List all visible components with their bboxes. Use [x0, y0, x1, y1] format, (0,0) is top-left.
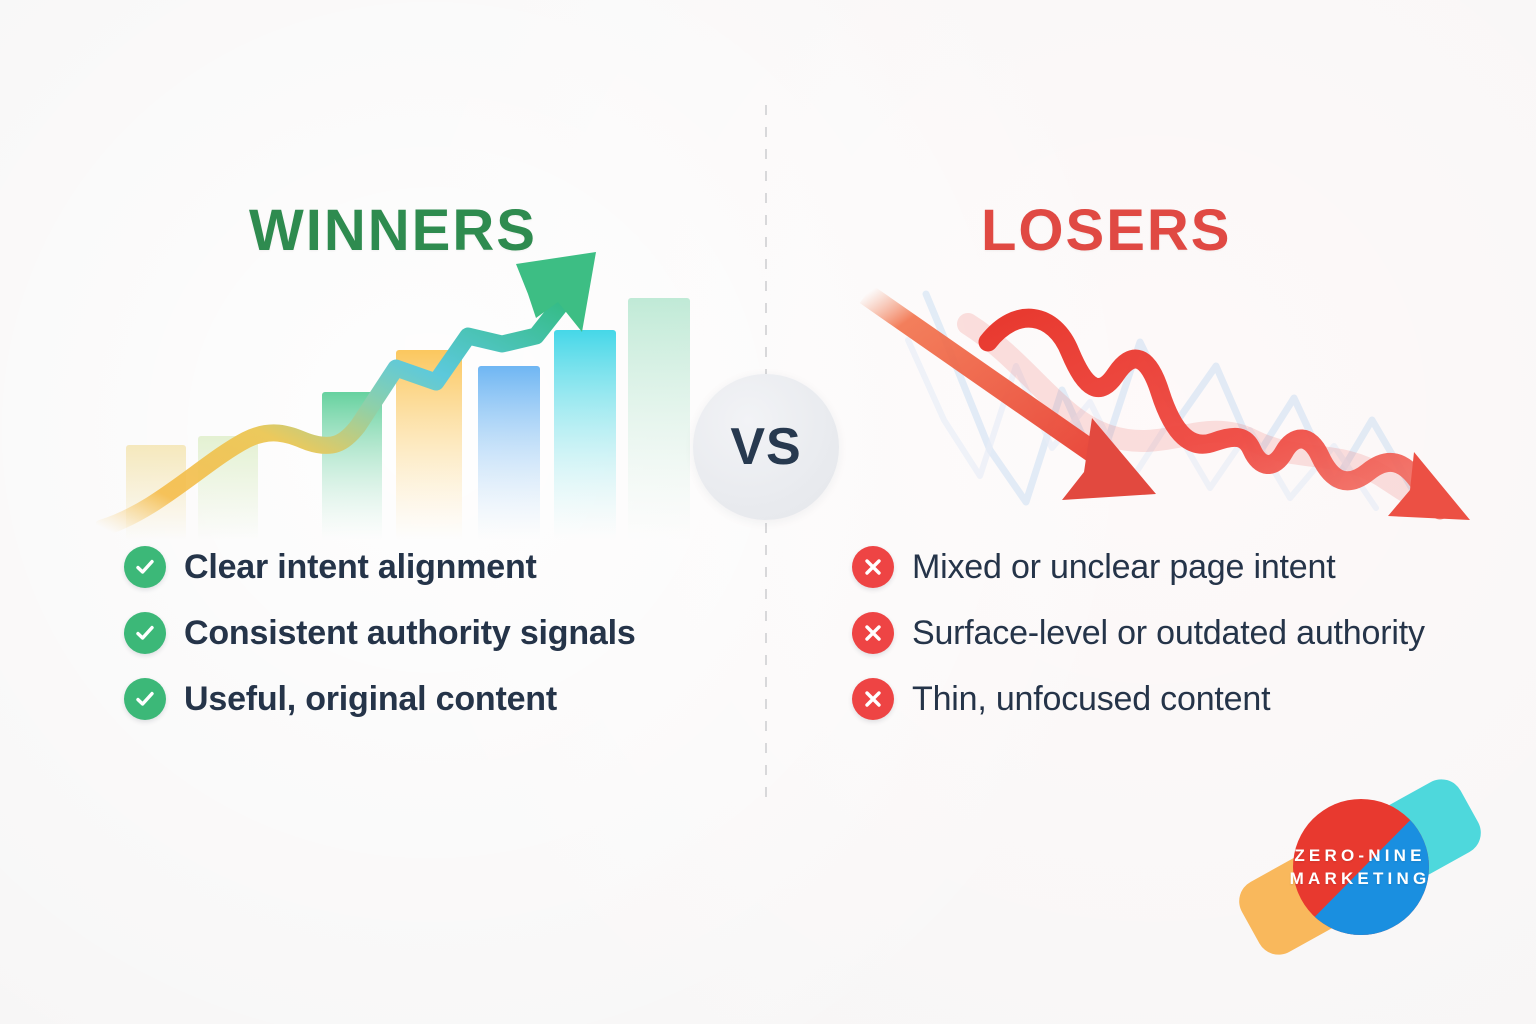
- list-item-label: Consistent authority signals: [184, 614, 636, 653]
- brand-logo[interactable]: ZERO-NINE MARKETING: [1225, 775, 1495, 960]
- vs-label: VS: [730, 417, 801, 477]
- losers-decline-chart: [848, 270, 1488, 540]
- losers-title: LOSERS: [981, 197, 1232, 264]
- list-item-label: Mixed or unclear page intent: [912, 548, 1335, 587]
- list-item-label: Thin, unfocused content: [912, 680, 1270, 719]
- losers-list: Mixed or unclear page intent Surface-lev…: [852, 546, 1425, 744]
- x-circle-icon: [852, 678, 894, 720]
- winners-title: WINNERS: [249, 197, 537, 264]
- list-item: Mixed or unclear page intent: [852, 546, 1425, 588]
- infographic-canvas: WINNERS LOSERS VS Clear intent alignment…: [0, 0, 1536, 1024]
- bar-5: [478, 366, 540, 540]
- list-item: Thin, unfocused content: [852, 678, 1425, 720]
- list-item: Consistent authority signals: [124, 612, 636, 654]
- check-circle-icon: [124, 612, 166, 654]
- winners-list: Clear intent alignment Consistent author…: [124, 546, 636, 744]
- list-item: Surface-level or outdated authority: [852, 612, 1425, 654]
- list-item: Useful, original content: [124, 678, 636, 720]
- bar-6: [554, 330, 616, 540]
- list-item-label: Useful, original content: [184, 680, 557, 719]
- x-circle-icon: [852, 612, 894, 654]
- winners-growth-chart: [96, 240, 716, 540]
- vs-badge: VS: [693, 374, 839, 520]
- list-item: Clear intent alignment: [124, 546, 636, 588]
- list-item-label: Surface-level or outdated authority: [912, 614, 1425, 653]
- check-circle-icon: [124, 678, 166, 720]
- check-circle-icon: [124, 546, 166, 588]
- bar-7: [628, 298, 690, 540]
- bar-group: [126, 298, 690, 540]
- list-item-label: Clear intent alignment: [184, 548, 537, 587]
- x-circle-icon: [852, 546, 894, 588]
